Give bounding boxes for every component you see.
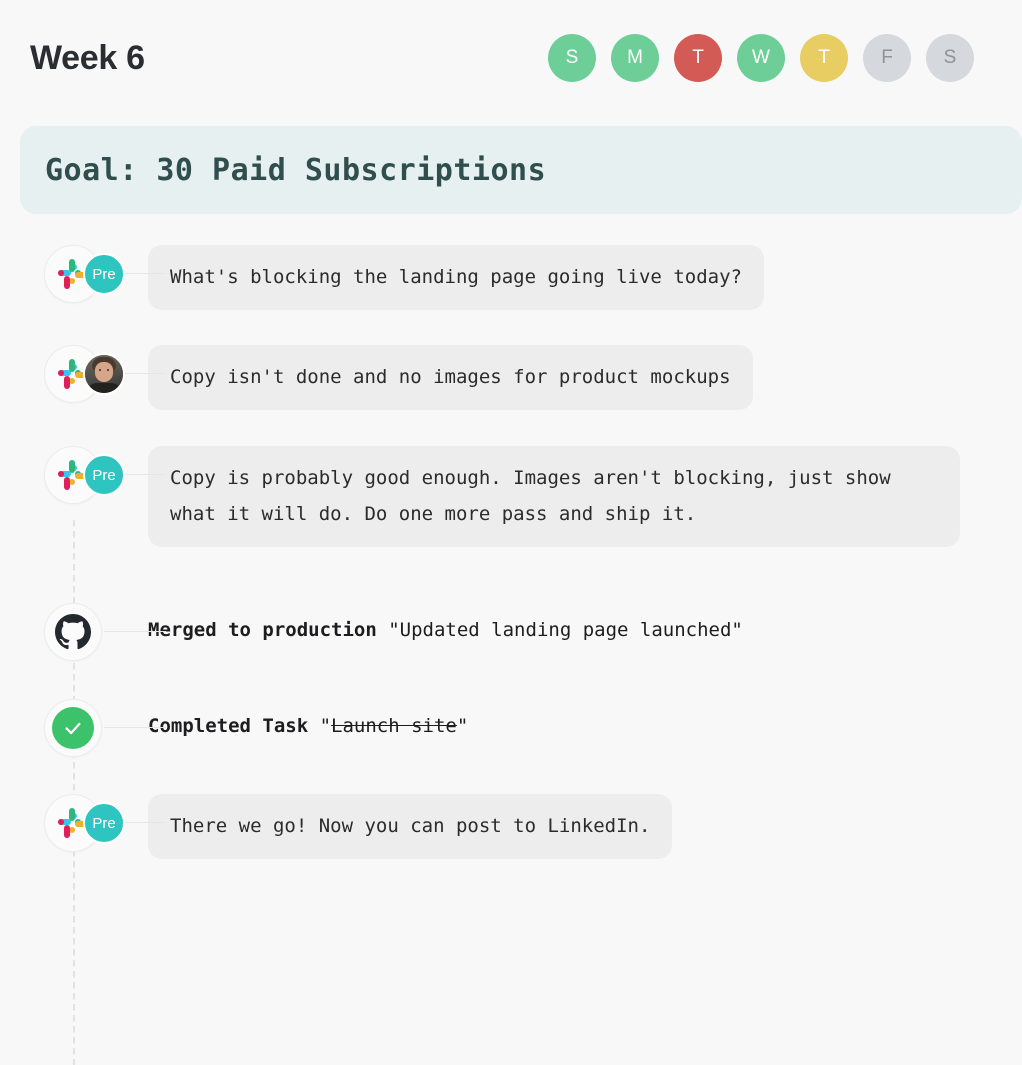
timeline-spine (73, 520, 75, 1065)
message-bubble: Copy isn't done and no images for produc… (148, 345, 753, 410)
activity-lead: Completed Task (148, 715, 308, 737)
message-bubble: What's blocking the landing page going l… (148, 245, 764, 310)
day-dot-friday[interactable]: F (863, 34, 911, 82)
timeline-node-3: Pre (0, 446, 148, 504)
timeline-event-6: Pre There we go! Now you can post to Lin… (0, 794, 1022, 859)
timeline-event-2: Copy isn't done and no images for produc… (0, 345, 1022, 410)
check-glyph (62, 717, 84, 739)
day-dot-sunday[interactable]: S (548, 34, 596, 82)
activity-quoted: Launch site (331, 715, 457, 737)
quote-open: " (377, 619, 400, 641)
timeline-event-4: Merged to production "Updated landing pa… (0, 603, 1022, 661)
timeline-node-4 (0, 603, 148, 661)
github-glyph (55, 614, 91, 650)
quote-close: " (731, 619, 742, 641)
avatar-badge-label: Pre (92, 467, 115, 484)
avatar-badge-pre[interactable]: Pre (83, 454, 125, 496)
quote-close: " (457, 715, 468, 737)
message-bubble: Copy is probably good enough. Images are… (148, 446, 960, 547)
activity-lead: Merged to production (148, 619, 377, 641)
goal-banner: Goal: 30 Paid Subscriptions (20, 126, 1022, 214)
timeline-node-6: Pre (0, 794, 148, 852)
timeline-content-2: Copy isn't done and no images for produc… (148, 345, 1022, 410)
activity-line-completed: Completed Task "Launch site" (148, 699, 998, 737)
timeline-content-6: There we go! Now you can post to LinkedI… (148, 794, 1022, 859)
activity-timeline: Pre What's blocking the landing page goi… (0, 245, 1022, 859)
timeline-node-2 (0, 345, 148, 403)
timeline-content-1: What's blocking the landing page going l… (148, 245, 1022, 310)
timeline-event-5: Completed Task "Launch site" (0, 699, 1022, 757)
timeline-content-4: Merged to production "Updated landing pa… (148, 603, 1022, 641)
avatar-badge-pre[interactable]: Pre (83, 253, 125, 295)
day-dot-wednesday[interactable]: W (737, 34, 785, 82)
activity-line-merged: Merged to production "Updated landing pa… (148, 603, 998, 641)
goal-text: Goal: 30 Paid Subscriptions (45, 153, 546, 188)
activity-quoted: Updated landing page launched (400, 619, 732, 641)
week-day-strip: S M T W T F S (548, 34, 974, 82)
timeline-node-1: Pre (0, 245, 148, 303)
avatar-face (85, 355, 123, 393)
day-dot-monday[interactable]: M (611, 34, 659, 82)
timeline-content-5: Completed Task "Launch site" (148, 699, 1022, 737)
timeline-connector (104, 727, 166, 728)
day-dot-saturday[interactable]: S (926, 34, 974, 82)
avatar-badge-label: Pre (92, 815, 115, 832)
message-bubble: There we go! Now you can post to LinkedI… (148, 794, 672, 859)
page-title: Week 6 (30, 41, 145, 75)
check-icon (52, 707, 94, 749)
day-dot-tuesday[interactable]: T (674, 34, 722, 82)
avatar-badge-pre[interactable]: Pre (83, 802, 125, 844)
avatar-badge-label: Pre (92, 266, 115, 283)
day-dot-thursday[interactable]: T (800, 34, 848, 82)
page-header: Week 6 S M T W T F S (0, 0, 1022, 116)
github-icon (44, 603, 102, 661)
timeline-content-3: Copy is probably good enough. Images are… (148, 446, 1022, 547)
avatar-photo[interactable] (83, 353, 125, 395)
task-complete-node (44, 699, 102, 757)
timeline-connector (104, 631, 166, 632)
timeline-node-5 (0, 699, 148, 757)
quote-open: " (308, 715, 331, 737)
timeline-event-1: Pre What's blocking the landing page goi… (0, 245, 1022, 310)
timeline-event-3: Pre Copy is probably good enough. Images… (0, 446, 1022, 547)
